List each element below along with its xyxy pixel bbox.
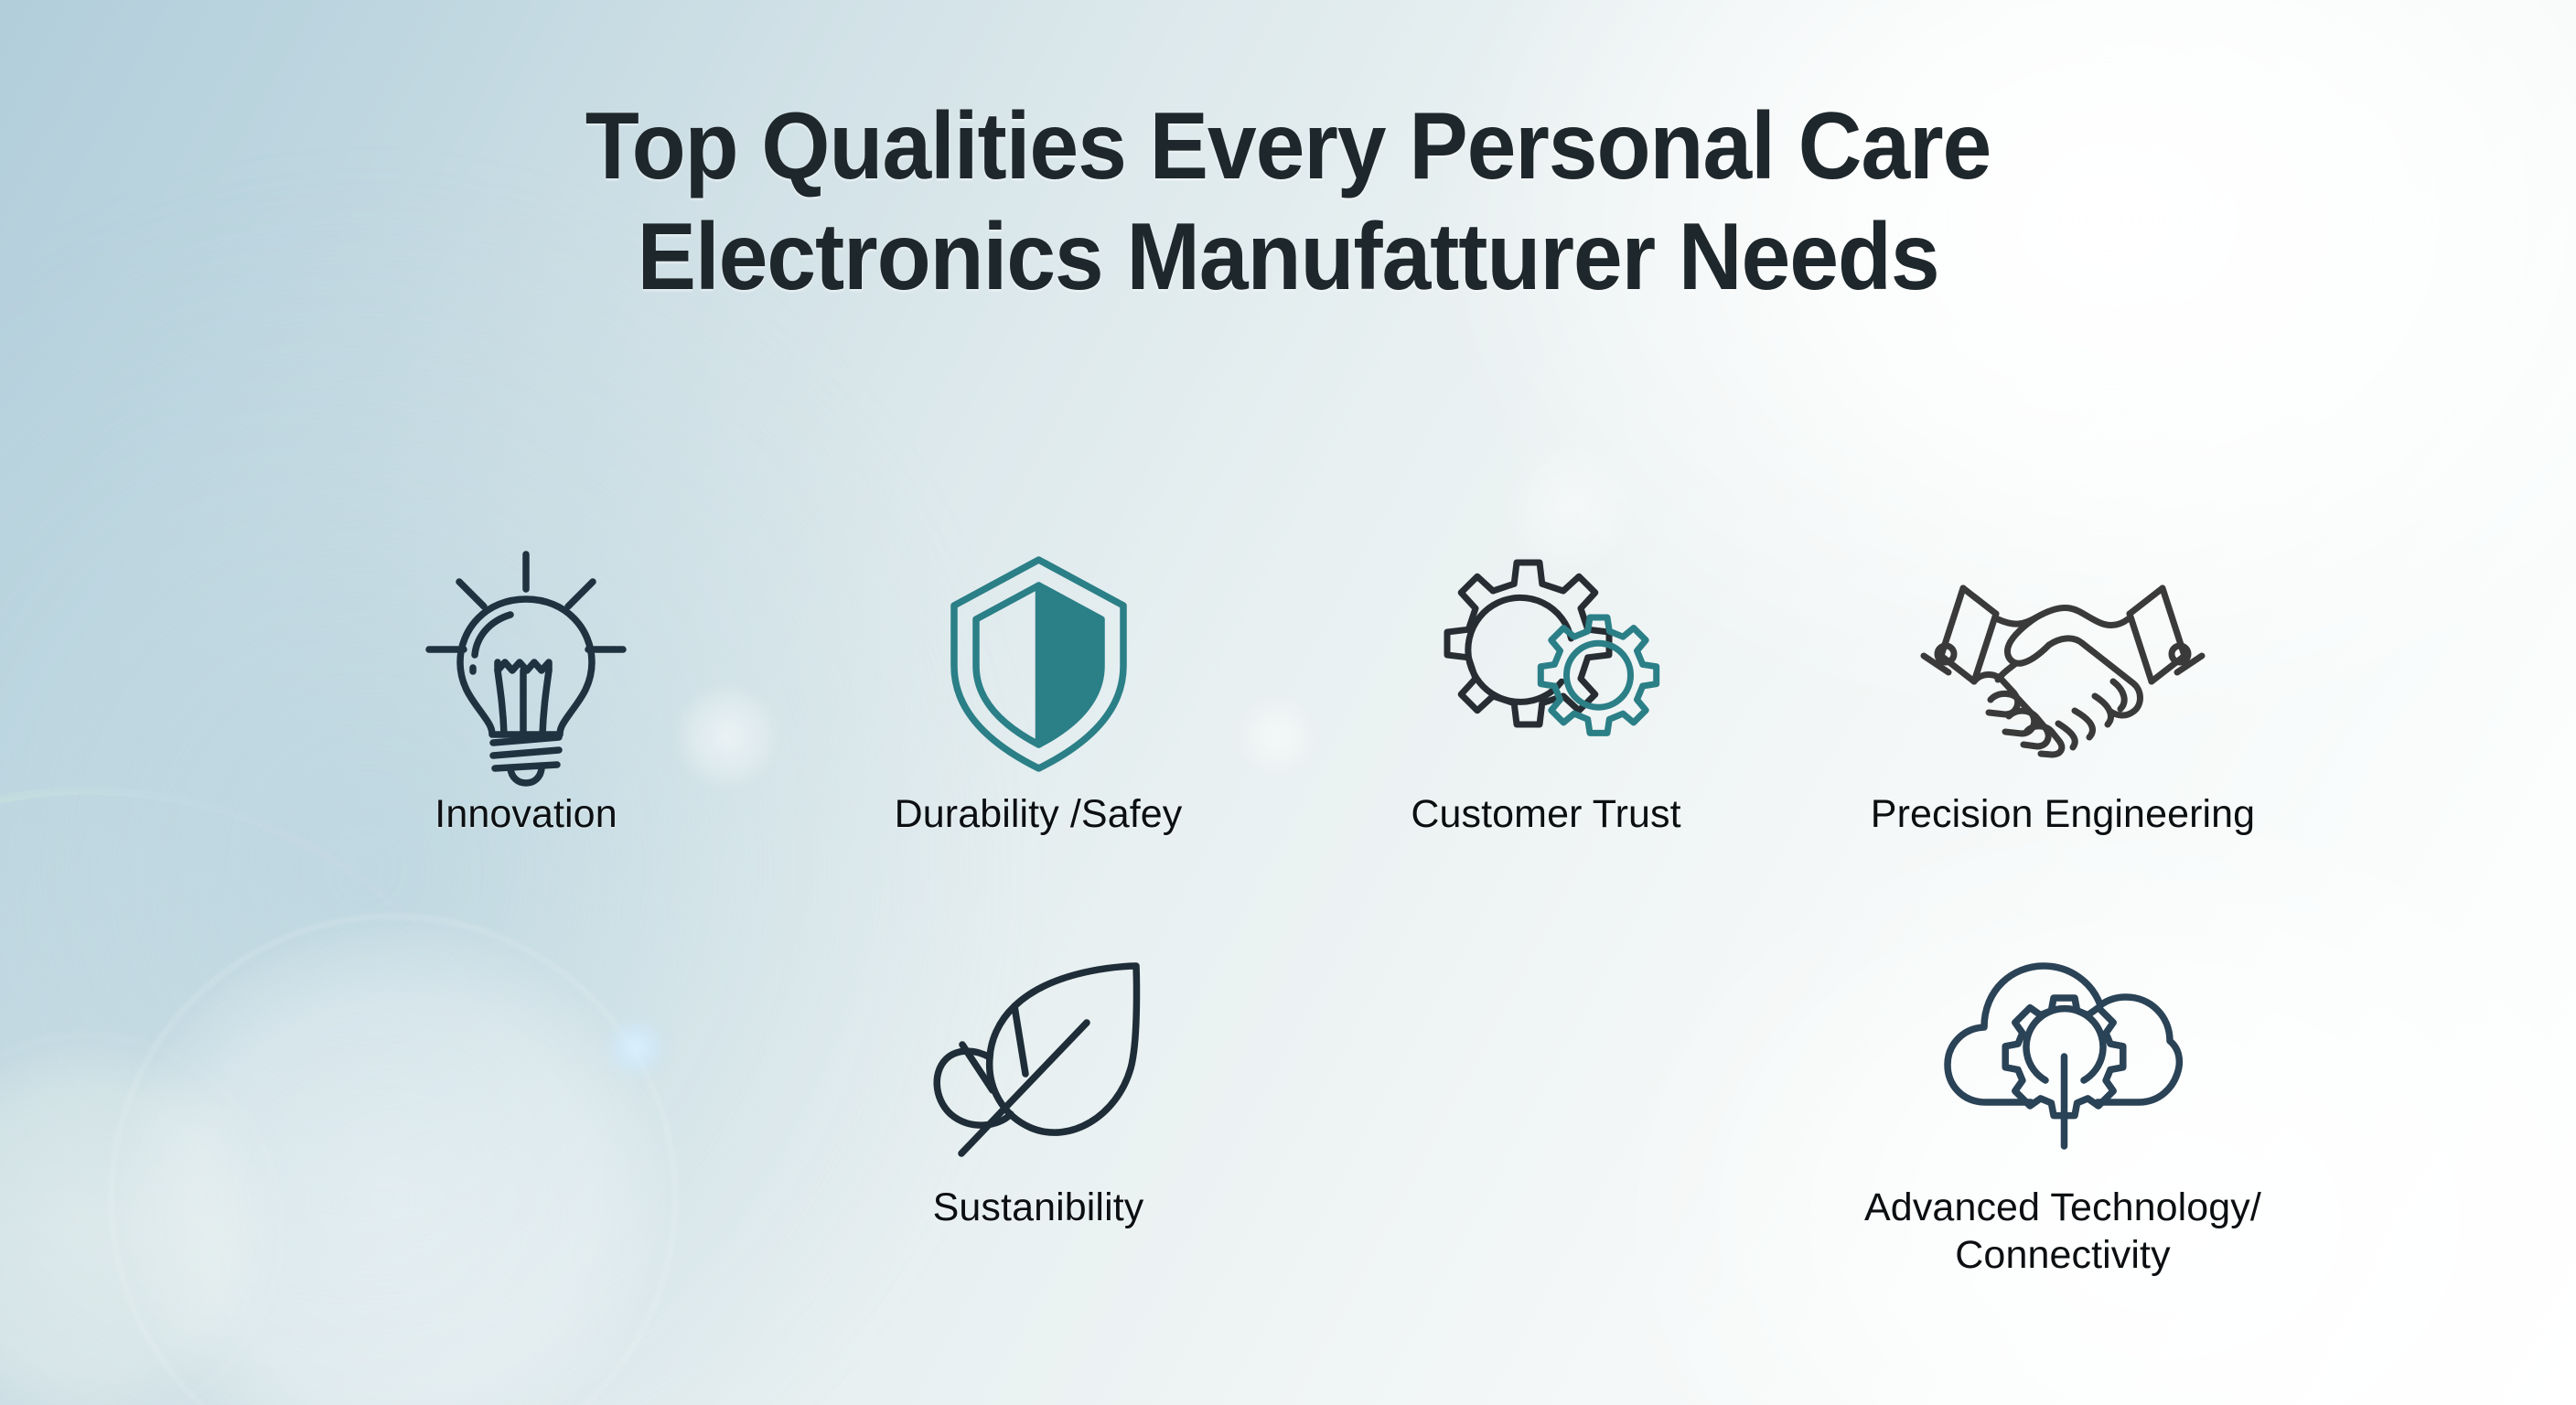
lightbulb-icon [316, 549, 736, 778]
handshake-icon [1852, 549, 2273, 778]
quality-item-innovation[interactable]: Innovation [316, 549, 736, 838]
quality-label: Advanced Technology/ Connectivity [1852, 1184, 2273, 1280]
quality-item-advanced-technology-connectivity[interactable]: Advanced Technology/ Connectivity [1852, 942, 2273, 1280]
quality-label: Sustanibility [828, 1184, 1249, 1231]
infographic-canvas: Top Qualities Every Personal Care Electr… [0, 0, 2576, 1405]
shield-icon [828, 549, 1249, 778]
quality-item-sustanibility[interactable]: Sustanibility [828, 942, 1249, 1231]
quality-label: Precision Engineering [1852, 790, 2273, 838]
page-title: Top Qualities Every Personal Care Electr… [0, 99, 2576, 305]
quality-item-durability-safey[interactable]: Durability /Safey [828, 549, 1249, 838]
quality-item-precision-engineering[interactable]: Precision Engineering [1852, 549, 2273, 838]
quality-label: Innovation [316, 790, 736, 838]
cloud-gear-icon [1852, 942, 2273, 1171]
quality-item-customer-trust[interactable]: Customer Trust [1336, 549, 1756, 838]
gears-icon [1336, 549, 1756, 778]
title-line-1: Top Qualities Every Personal Care [91, 99, 2486, 194]
quality-label: Durability /Safey [828, 790, 1249, 838]
quality-label: Customer Trust [1336, 790, 1756, 838]
leaf-icon [828, 942, 1249, 1171]
title-line-2: Electronics Manufatturer Needs [91, 209, 2486, 305]
